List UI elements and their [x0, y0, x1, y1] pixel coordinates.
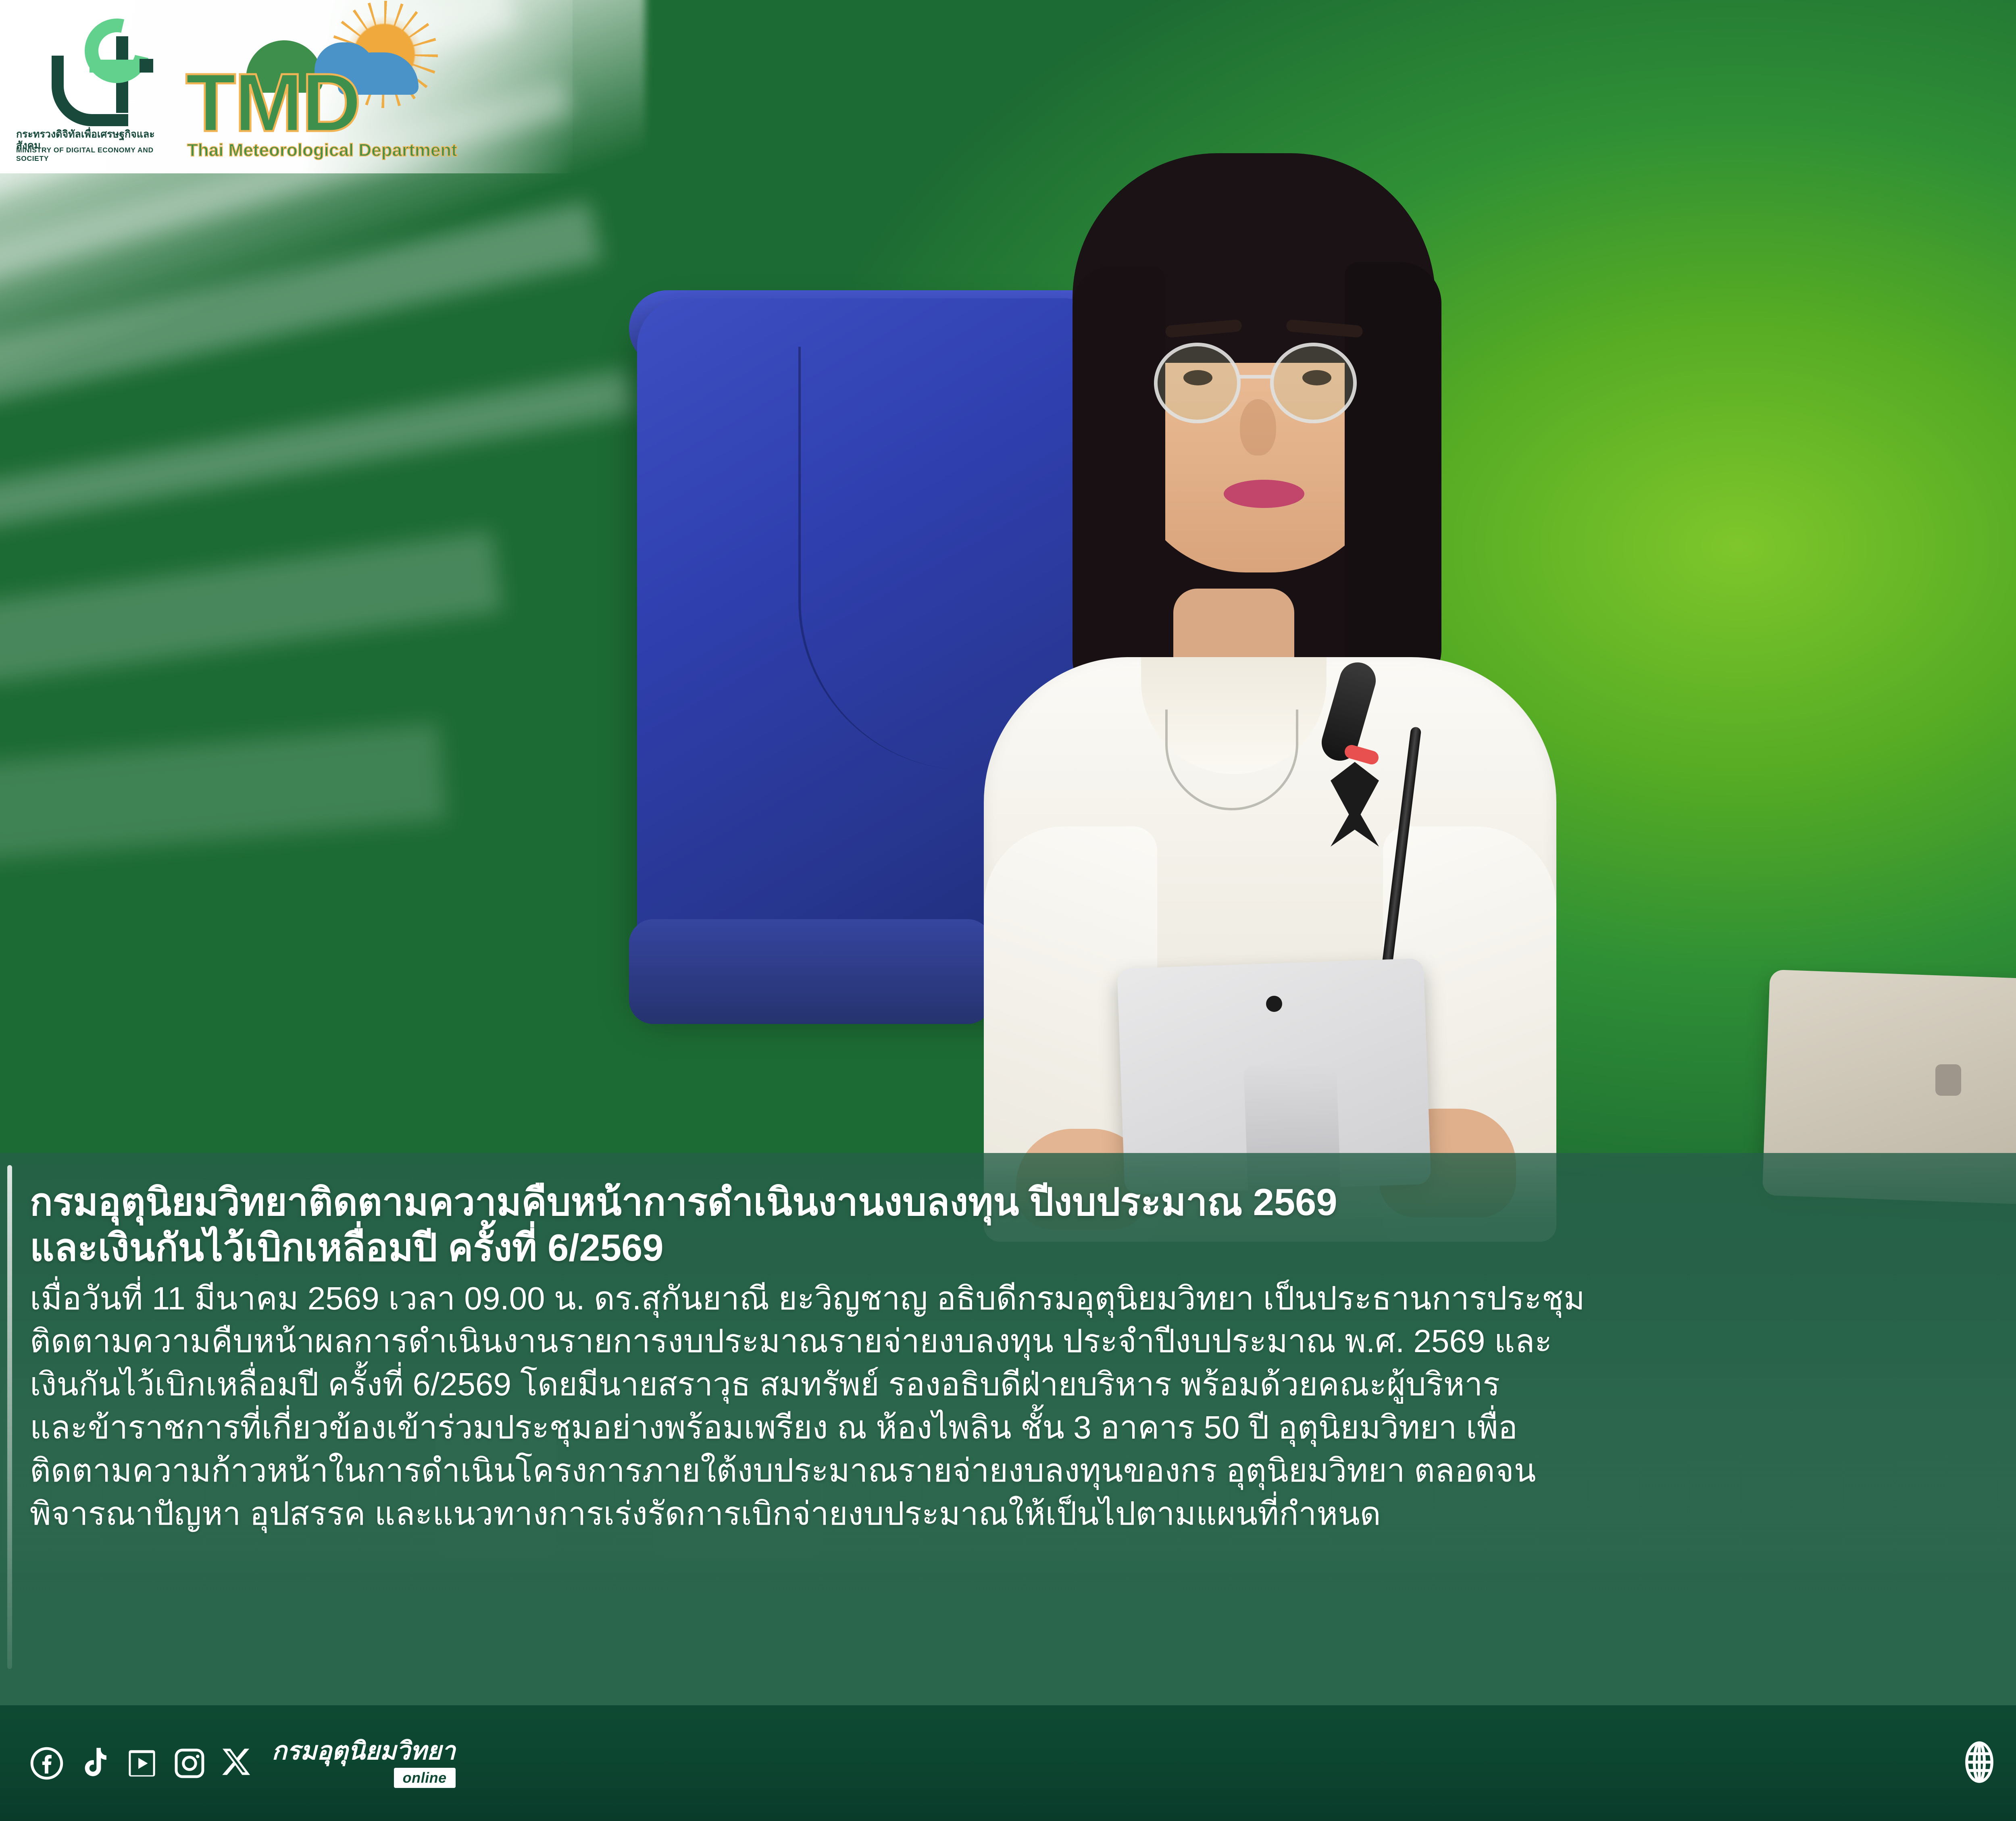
eyeglasses-left-lens [1154, 343, 1241, 423]
ministry-mark-icon [40, 11, 153, 126]
instagram-icon[interactable] [171, 1745, 208, 1782]
text-overlay-panel: กรมอุตุนิยมวิทยาติดตามความคืบหน้าการดำเน… [0, 1153, 2016, 1705]
eyeglasses-bridge [1238, 375, 1274, 379]
nose [1240, 399, 1276, 456]
eyeglasses-right-lens [1270, 343, 1357, 423]
brand-block: กรมอุตุนิยมวิทยา online [272, 1739, 456, 1788]
youtube-icon[interactable] [123, 1745, 160, 1782]
brand-name-thai: กรมอุตุนิยมวิทยา [272, 1739, 456, 1764]
body-line: ติดตามความก้าวหน้าในการดำเนินโครงการภายใ… [30, 1449, 2016, 1492]
tmd-letters: TMD [185, 64, 476, 142]
x-twitter-icon[interactable] [219, 1745, 256, 1782]
body-line: ติดตามความคืบหน้าผลการดำเนินงานรายการงบป… [30, 1320, 2016, 1363]
headline-line-1: กรมอุตุนิยมวิทยาติดตามความคืบหน้าการดำเน… [30, 1181, 1337, 1223]
ministry-logo: กระทรวงดิจิทัลเพื่อเศรษฐกิจและสังคม MINI… [16, 11, 173, 166]
body-line: พิจารณาปัญหา อุปสรรค และแนวทางการเร่งรัด… [30, 1492, 2016, 1536]
tablet-logo [1935, 1064, 1961, 1096]
facebook-icon[interactable] [28, 1745, 65, 1782]
page-title: กรมอุตุนิยมวิทยาติดตามความคืบหน้าการดำเน… [30, 1180, 2016, 1271]
tablet-camera [1266, 996, 1282, 1012]
ministry-name-english: MINISTRY OF DIGITAL ECONOMY AND SOCIETY [16, 146, 173, 163]
globe-icon [1958, 1741, 2000, 1785]
body-line: และข้าราชการที่เกี่ยวข้องเข้าร่วมประชุมอ… [30, 1406, 2016, 1449]
body-line: เมื่อวันที่ 11 มีนาคม 2569 เวลา 09.00 น.… [30, 1277, 2016, 1320]
infographic-poster: WWW.TMD [0, 0, 2016, 1821]
body-line: เงินกันไว้เบิกเหลื่อมปี ครั้งที่ 6/2569 … [30, 1363, 2016, 1406]
ministry-dot [140, 59, 153, 73]
tmd-logo: TMD Thai Meteorological Department [185, 4, 476, 165]
footer-bar: กรมอุตุนิยมวิทยา online www.tmd.go.th 11… [0, 1705, 2016, 1821]
social-links-group: กรมอุตุนิยมวิทยา online [28, 1739, 456, 1788]
tiktok-icon[interactable] [76, 1745, 113, 1782]
mouth [1224, 480, 1304, 508]
accent-bar [7, 1165, 12, 1669]
tmd-subtitle: Thai Meteorological Department [187, 140, 477, 160]
hair-left [1073, 266, 1165, 706]
contact-group: www.tmd.go.th 1182 สายด่วน [1958, 1727, 2016, 1798]
online-badge: online [394, 1768, 456, 1788]
logo-plate: กระทรวงดิจิทัลเพื่อเศรษฐกิจและสังคม MINI… [0, 0, 573, 173]
headline-line-2: และเงินกันไว้เบิกเหลื่อมปี ครั้งที่ 6/25… [30, 1225, 2016, 1271]
article-body: เมื่อวันที่ 11 มีนาคม 2569 เวลา 09.00 น.… [30, 1277, 2016, 1536]
ministry-e-bar [90, 60, 138, 73]
